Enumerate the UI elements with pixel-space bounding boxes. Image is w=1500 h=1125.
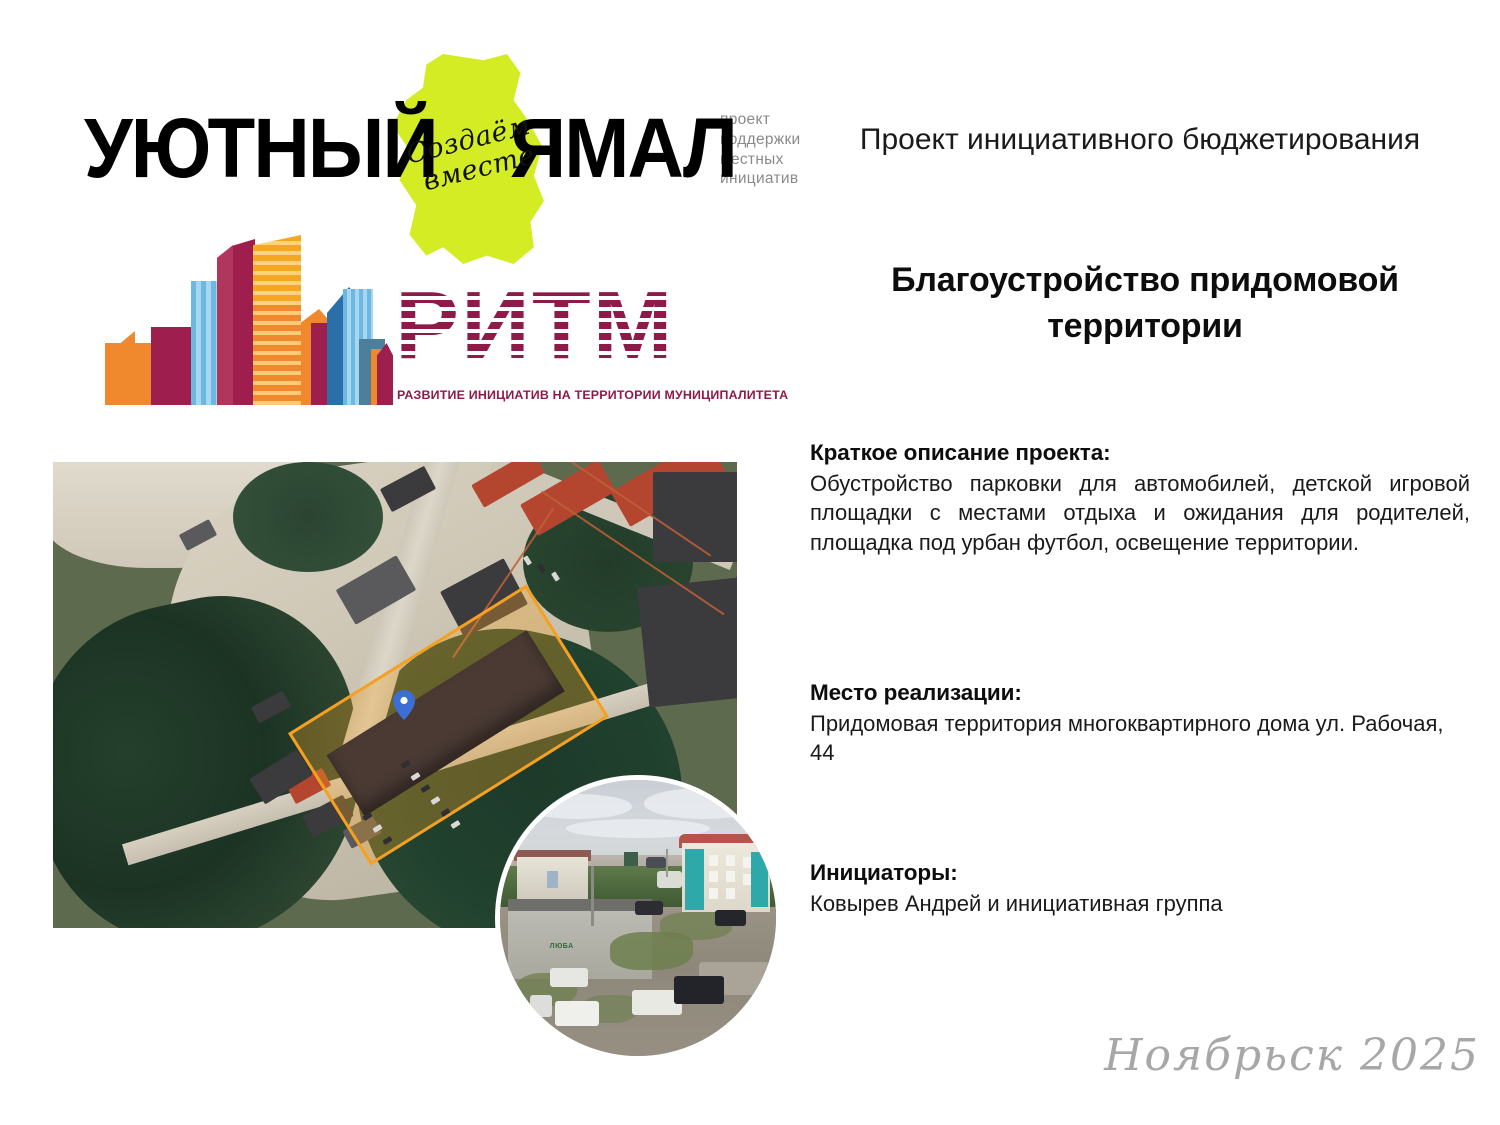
description-block: Краткое описание проекта: Обустройство п…	[810, 440, 1470, 557]
uyutny-yamal-logo: УЮТНЫЙ ЯМАЛ Создаём вместе проект поддер…	[70, 92, 810, 237]
place-heading: Место реализации:	[810, 680, 1470, 706]
initiators-body: Ковырев Андрей и инициативная группа	[810, 889, 1470, 918]
project-subtitle: Проект инициативного бюджетирования	[810, 118, 1470, 162]
initiators-block: Инициаторы: Ковырев Андрей и инициативна…	[810, 860, 1470, 918]
logo-word-uyutny: УЮТНЫЙ	[84, 106, 437, 190]
map-pin-icon	[393, 690, 415, 720]
courtyard-photo-inset: ЛЮБА	[495, 775, 781, 1061]
city-skyline-icon	[105, 243, 385, 415]
presentation-slide: УЮТНЫЙ ЯМАЛ Создаём вместе проект поддер…	[0, 0, 1500, 1125]
initiators-heading: Инициаторы:	[810, 860, 1470, 886]
ritm-wordmark: РИТМ	[395, 278, 675, 374]
place-block: Место реализации: Придомовая территория …	[810, 680, 1470, 768]
description-heading: Краткое описание проекта:	[810, 440, 1470, 466]
description-body: Обустройство парковки для автомобилей, д…	[810, 469, 1470, 557]
footer-date: Ноябрьск 2025	[1090, 1030, 1480, 1081]
page-title: Благоустройство придомовой территории	[810, 258, 1480, 349]
left-column: УЮТНЫЙ ЯМАЛ Создаём вместе проект поддер…	[0, 0, 790, 1125]
shop-sign-text: ЛЮБА	[550, 943, 574, 950]
ritm-logo: РИТМ РАЗВИТИЕ ИНИЦИАТИВ НА ТЕРРИТОРИИ МУ…	[95, 243, 755, 423]
place-body: Придомовая территория многоквартирного д…	[810, 709, 1470, 768]
right-column: Проект инициативного бюджетирования Благ…	[790, 0, 1500, 1125]
ritm-tagline: РАЗВИТИЕ ИНИЦИАТИВ НА ТЕРРИТОРИИ МУНИЦИП…	[397, 388, 742, 402]
